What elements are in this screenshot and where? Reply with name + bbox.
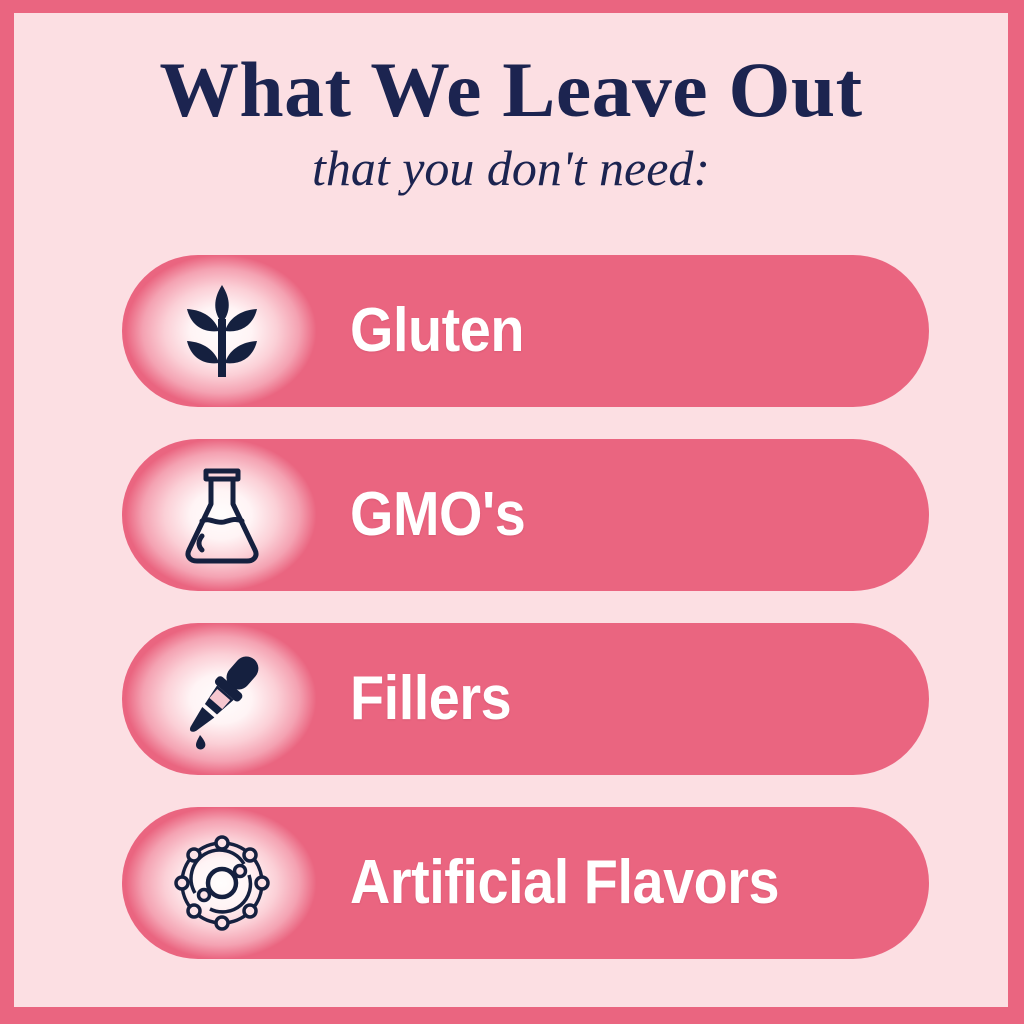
inner-panel: What We Leave Out that you don't need:: [14, 13, 1008, 1007]
list-item-fillers[interactable]: Fillers: [122, 623, 929, 775]
page-subtitle: that you don't need:: [14, 143, 1008, 193]
list-item-gluten[interactable]: Gluten: [122, 255, 929, 407]
header: What We Leave Out that you don't need:: [14, 51, 1008, 193]
list-item-label: GMO's: [350, 484, 525, 546]
infographic-canvas: What We Leave Out that you don't need:: [0, 0, 1024, 1024]
molecule-icon: [122, 807, 322, 959]
list-item-label: Gluten: [350, 300, 524, 362]
flask-icon: [122, 439, 322, 591]
page-title: What We Leave Out: [4, 51, 1018, 129]
list-item-label: Fillers: [350, 668, 511, 730]
list-item-label: Artificial Flavors: [350, 852, 779, 914]
list-item-gmos[interactable]: GMO's: [122, 439, 929, 591]
wheat-icon: [122, 255, 322, 407]
excluded-ingredients-list: Gluten: [122, 255, 929, 959]
list-item-artificial-flavors[interactable]: Artificial Flavors: [122, 807, 929, 959]
dropper-icon: [122, 623, 322, 775]
